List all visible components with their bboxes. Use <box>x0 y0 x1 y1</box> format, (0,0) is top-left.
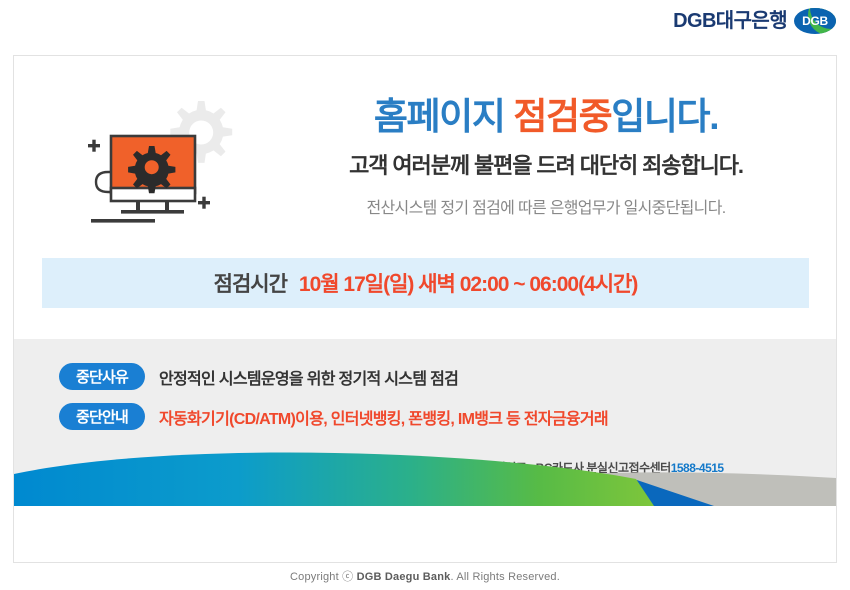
plus-decoration-right <box>198 197 210 209</box>
plus-decoration-left <box>88 140 100 152</box>
hero-text-block: 홈페이지 점검중입니다. 고객 여러분께 불편을 드려 대단히 죄송합니다. 전… <box>276 96 816 218</box>
headline-part-2: 점검중 <box>513 96 611 137</box>
wave-gradient <box>14 453 654 506</box>
badge-notice: 중단안내 <box>59 403 145 430</box>
info-text-notice: 자동화기기(CD/ATM)이용, 인터넷뱅킹, 폰뱅킹, IM뱅크 등 전자금융… <box>159 405 608 429</box>
badge-reason: 중단사유 <box>59 363 145 390</box>
monitor-stand-left <box>136 201 140 210</box>
info-section: 중단사유 안정적인 시스템운영을 위한 정기적 시스템 점검 중단안내 자동화기… <box>14 339 836 506</box>
maintenance-panel: 홈페이지 점검중입니다. 고객 여러분께 불편을 드려 대단히 죄송합니다. 전… <box>13 55 837 563</box>
maintenance-time-banner: 점검시간 10월 17일(일) 새벽 02:00 ~ 06:00(4시간) <box>42 258 809 308</box>
headline-part-1: 홈페이지 <box>374 96 513 137</box>
info-row-reason: 중단사유 안정적인 시스템운영을 위한 정기적 시스템 점검 <box>59 363 836 390</box>
monitor-stand-right <box>165 201 169 210</box>
wave-decoration <box>14 446 836 506</box>
headline-part-3: 입니다. <box>611 96 718 137</box>
dgb-logo[interactable]: DGB대구은행 DGB <box>673 8 836 34</box>
ground-line <box>91 219 155 223</box>
page-header: DGB대구은행 DGB <box>0 0 850 48</box>
monitor-gear-icon <box>64 84 254 239</box>
copyright-text: Copyright ⓒ DGB Daegu Bank. All Rights R… <box>0 568 850 584</box>
maintenance-time-label: 점검시간 <box>214 268 287 298</box>
copyright-pre: Copyright ⓒ <box>290 571 357 583</box>
page-title: 홈페이지 점검중입니다. <box>276 96 816 139</box>
brand-mark-text: DGB <box>802 14 828 28</box>
hero-section: 홈페이지 점검중입니다. 고객 여러분께 불편을 드려 대단히 죄송합니다. 전… <box>14 56 836 284</box>
info-text-reason: 안정적인 시스템운영을 위한 정기적 시스템 점검 <box>159 365 458 389</box>
info-row-notice: 중단안내 자동화기기(CD/ATM)이용, 인터넷뱅킹, 폰뱅킹, IM뱅크 등… <box>59 403 836 430</box>
screen-gear-hole <box>145 160 159 174</box>
maintenance-time-value: 10월 17일(일) 새벽 02:00 ~ 06:00(4시간) <box>299 268 637 298</box>
monitor-foot <box>121 210 184 214</box>
copyright-brand: DGB Daegu Bank <box>357 571 451 583</box>
dgb-roundel-icon: DGB <box>794 8 836 34</box>
copyright-post: . All Rights Reserved. <box>450 571 560 583</box>
page-subtitle: 고객 여러분께 불편을 드려 대단히 죄송합니다. <box>276 148 816 180</box>
brand-wordmark: DGB대구은행 <box>673 11 787 31</box>
page-description: 전산시스템 정기 점검에 따른 은행업무가 일시중단됩니다. <box>276 194 816 218</box>
